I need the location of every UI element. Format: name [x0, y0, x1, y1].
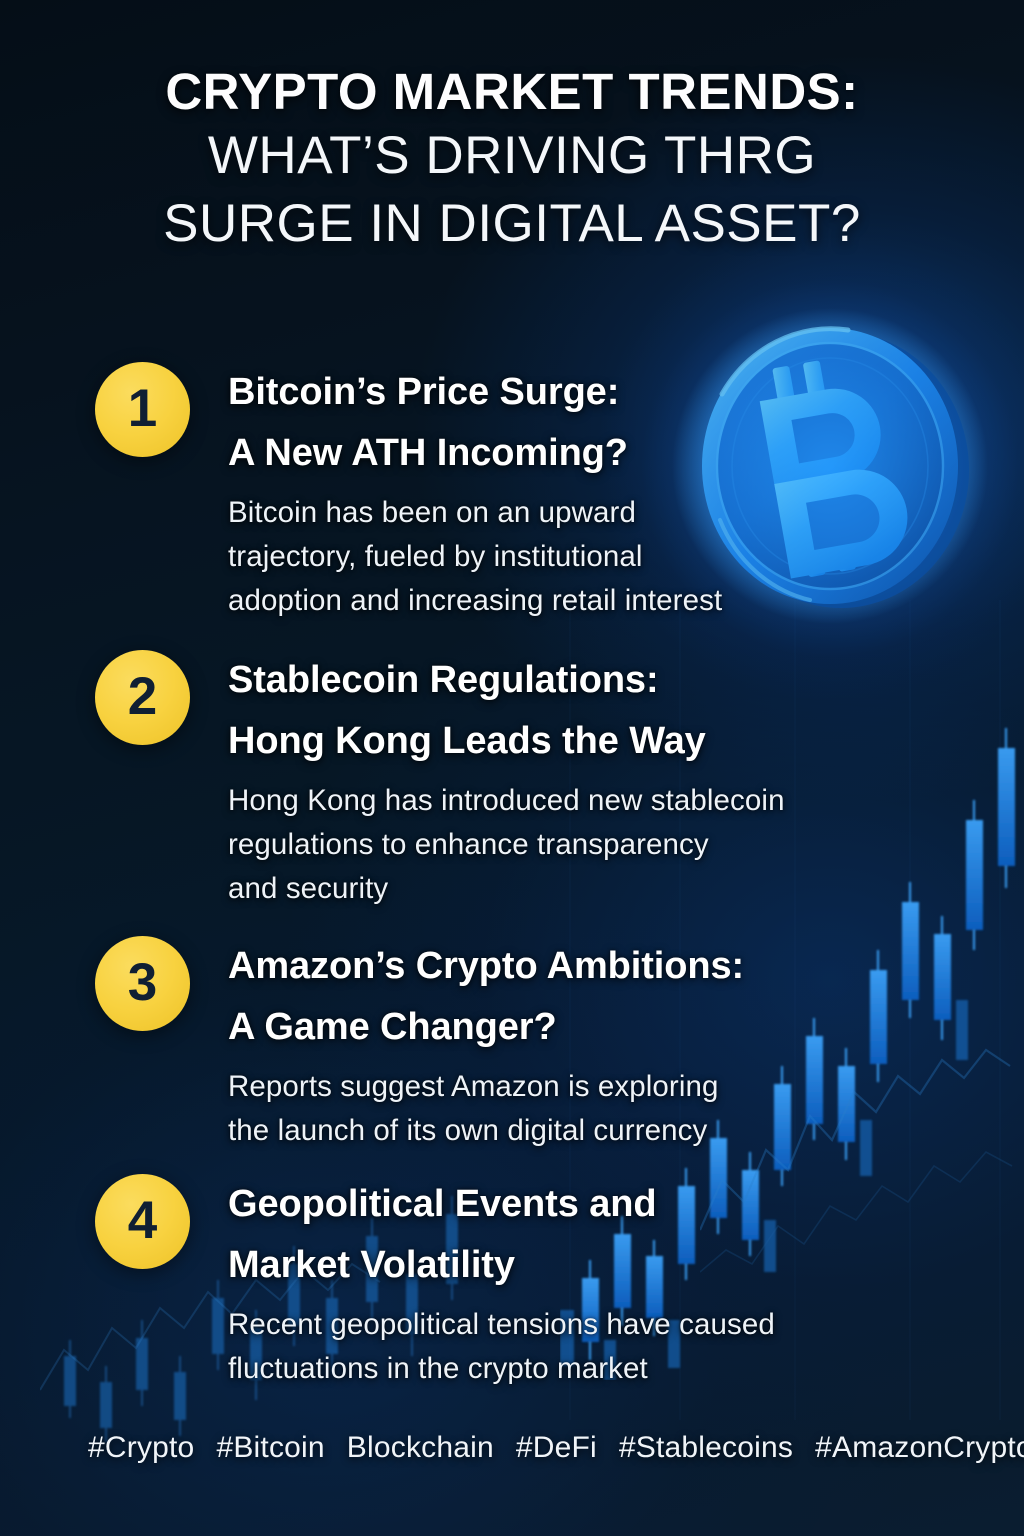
hashtag-item[interactable]: #AmazonCrypto	[815, 1431, 1024, 1464]
item-number-4: 4	[128, 1194, 157, 1247]
title-line-1: CRYPTO MARKET TRENDS:	[0, 62, 1024, 122]
title-line-2: WHAT’S DRIVING THRG	[0, 122, 1024, 190]
hashtag-item[interactable]: #Bitcoin	[216, 1431, 324, 1464]
item-content-3: Amazon’s Crypto Ambitions: A Game Change…	[228, 936, 958, 1153]
poster-title: CRYPTO MARKET TRENDS: WHAT’S DRIVING THR…	[0, 62, 1024, 258]
hashtag-item[interactable]: Blockchain	[347, 1431, 494, 1464]
item-number-badge-3: 3	[95, 936, 190, 1031]
infographic-poster: CRYPTO MARKET TRENDS: WHAT’S DRIVING THR…	[0, 0, 1024, 1536]
item-description-1: Bitcoin has been on an upward trajectory…	[228, 491, 958, 623]
hashtag-item[interactable]: #Crypto	[88, 1431, 194, 1464]
item-number-1: 1	[128, 382, 157, 435]
item-title-1: Bitcoin’s Price Surge: A New ATH Incomin…	[228, 362, 958, 484]
hashtag-item[interactable]: #Stablecoins	[619, 1431, 793, 1464]
item-description-3: Reports suggest Amazon is exploring the …	[228, 1065, 958, 1153]
hashtag-list: #Crypto#BitcoinBlockchain#DeFi#Stablecoi…	[88, 1424, 968, 1471]
item-content-2: Stablecoin Regulations: Hong Kong Leads …	[228, 650, 958, 911]
item-title-3: Amazon’s Crypto Ambitions: A Game Change…	[228, 936, 958, 1058]
title-line-3: SURGE IN DIGITAL ASSET?	[0, 190, 1024, 258]
item-number-badge-1: 1	[95, 362, 190, 457]
item-description-2: Hong Kong has introduced new stablecoin …	[228, 779, 958, 911]
item-content-1: Bitcoin’s Price Surge: A New ATH Incomin…	[228, 362, 958, 623]
item-title-2: Stablecoin Regulations: Hong Kong Leads …	[228, 650, 958, 772]
item-content-4: Geopolitical Events and Market Volatilit…	[228, 1174, 958, 1391]
item-number-2: 2	[128, 670, 157, 723]
hashtag-item[interactable]: #DeFi	[516, 1431, 597, 1464]
item-number-badge-2: 2	[95, 650, 190, 745]
item-number-3: 3	[128, 956, 157, 1009]
item-title-4: Geopolitical Events and Market Volatilit…	[228, 1174, 958, 1296]
item-description-4: Recent geopolitical tensions have caused…	[228, 1303, 958, 1391]
item-number-badge-4: 4	[95, 1174, 190, 1269]
